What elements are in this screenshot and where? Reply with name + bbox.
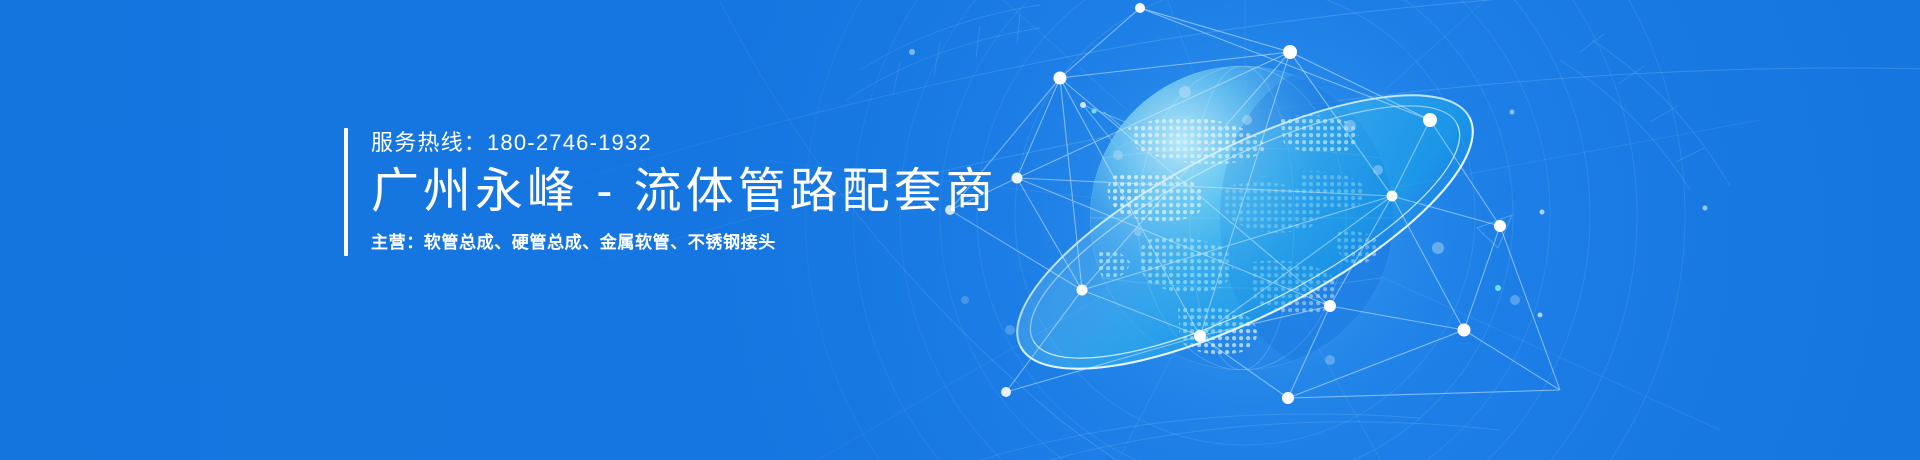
grid-ladder-right (1560, 34, 1730, 190)
accent-bar (344, 128, 348, 256)
banner-text-block: 服务热线：180-2746-1932 广州永峰 - 流体管路配套商 主营：软管总… (344, 128, 998, 256)
page-title: 广州永峰 - 流体管路配套商 (371, 162, 998, 222)
hotline-text: 服务热线：180-2746-1932 (371, 128, 998, 158)
business-scope-text: 主营：软管总成、硬管总成、金属软管、不锈钢接头 (371, 230, 998, 256)
promo-banner: 服务热线：180-2746-1932 广州永峰 - 流体管路配套商 主营：软管总… (0, 0, 1920, 460)
